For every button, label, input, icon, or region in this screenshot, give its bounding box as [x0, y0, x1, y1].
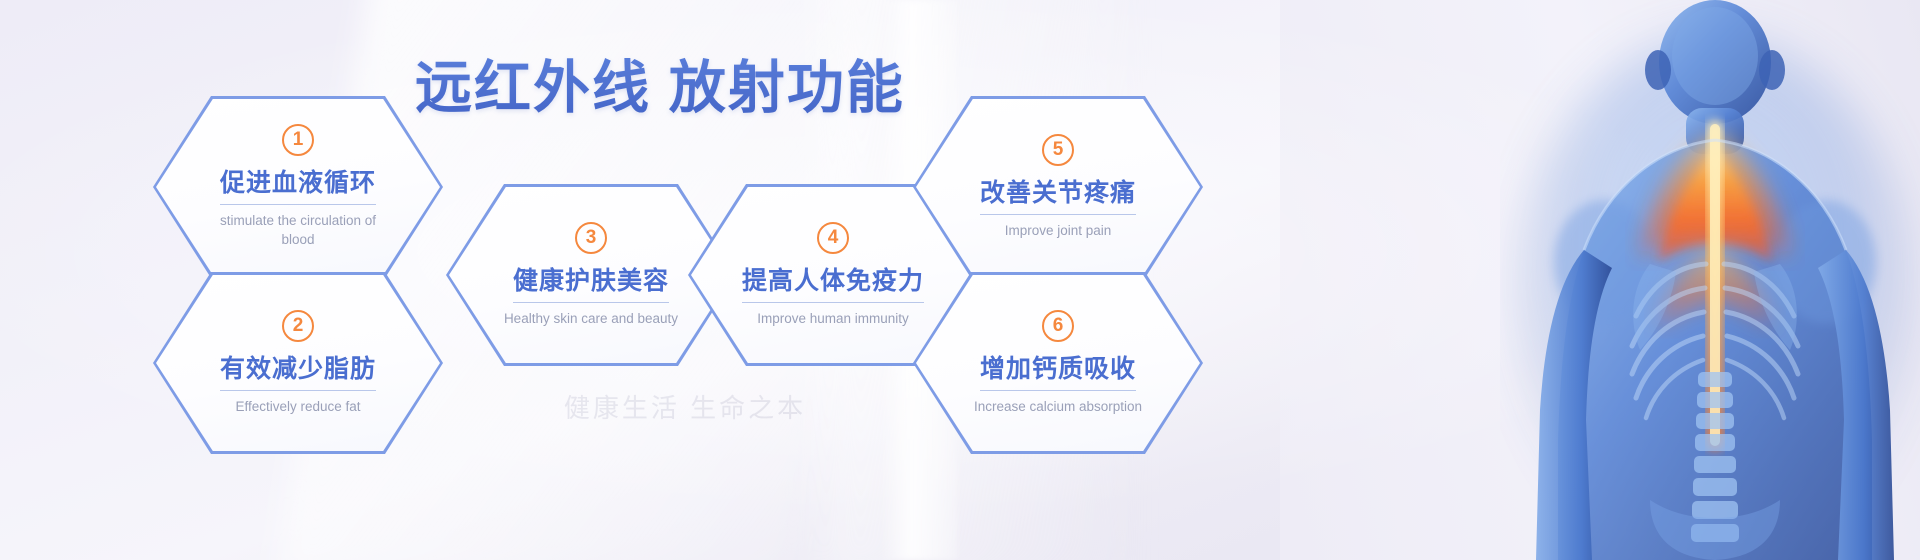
feature-number-3: 3 [575, 222, 607, 254]
feature-hexagon-2[interactable]: 2 有效减少脂肪 Effectively reduce fat [153, 272, 443, 454]
feature-subtitle-3: Healthy skin care and beauty [504, 310, 678, 329]
watermark-text: 健康生活 生命之本 [560, 388, 810, 425]
feature-number-5: 5 [1042, 134, 1074, 166]
feature-heading-3: 健康护肤美容 [513, 261, 669, 303]
feature-subtitle-2: Effectively reduce fat [235, 398, 360, 417]
feature-heading-4: 提高人体免疫力 [742, 261, 924, 303]
infographic-banner: 健康生活 生命之本 远红外线 放射功能 1 促进血液循环 stimulate t… [0, 0, 1920, 560]
feature-heading-1: 促进血液循环 [220, 163, 376, 205]
feature-number-6: 6 [1042, 310, 1074, 342]
human-back-anatomy-thermal-illustration [1500, 0, 1920, 560]
feature-heading-2: 有效减少脂肪 [220, 349, 376, 391]
feature-heading-5: 改善关节疼痛 [980, 173, 1136, 215]
feature-number-2: 2 [282, 310, 314, 342]
feature-heading-6: 增加钙质吸收 [980, 349, 1136, 391]
page-title: 远红外线 放射功能 [415, 42, 905, 124]
feature-hexagon-6[interactable]: 6 增加钙质吸收 Increase calcium absorption [913, 272, 1203, 454]
feature-subtitle-4: Improve human immunity [757, 310, 909, 329]
feature-subtitle-1: stimulate the circulation of blood [203, 212, 393, 249]
feature-hexagon-1[interactable]: 1 促进血液循环 stimulate the circulation of bl… [153, 96, 443, 278]
feature-subtitle-5: Improve joint pain [1005, 222, 1112, 241]
feature-number-4: 4 [817, 222, 849, 254]
feature-number-1: 1 [282, 124, 314, 156]
feature-subtitle-6: Increase calcium absorption [974, 398, 1142, 417]
feature-hexagon-5[interactable]: 5 改善关节疼痛 Improve joint pain [913, 96, 1203, 278]
